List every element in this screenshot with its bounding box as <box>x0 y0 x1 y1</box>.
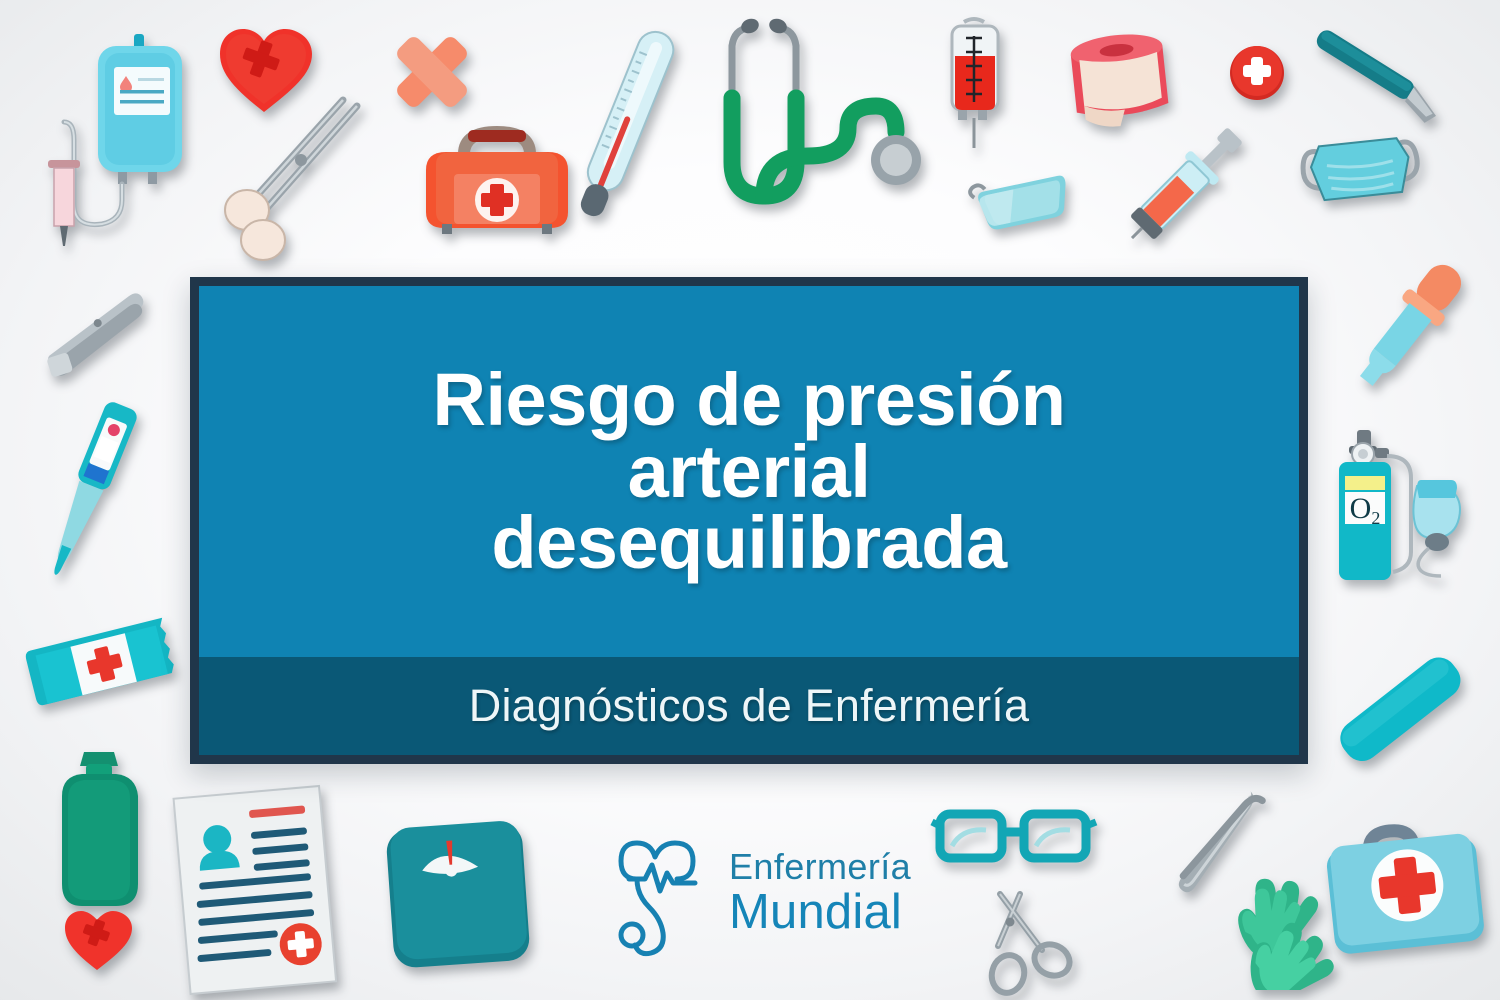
banner-top-band: Riesgo de presión arterial desequilibrad… <box>199 286 1299 657</box>
thermometer-glass-icon <box>555 20 695 230</box>
oxygen-tank-icon: O2 <box>1325 418 1485 618</box>
bandage-strip-icon <box>1326 640 1476 780</box>
banner-bottom-band: Diagnósticos de Enfermería <box>199 657 1299 755</box>
medical-case-icon <box>1312 812 1492 972</box>
iv-drip-bag-icon <box>30 22 210 252</box>
forceps-icon <box>205 88 375 268</box>
title-banner: Riesgo de presión arterial desequilibrad… <box>190 277 1308 764</box>
bandage-packet-icon <box>24 600 194 730</box>
logo-line-two: Mundial <box>729 888 911 937</box>
bandage-cross-icon <box>388 28 476 116</box>
surgical-scissors-icon <box>980 888 1090 1000</box>
logo-line-one: Enfermería <box>729 849 911 885</box>
scalpel-icon <box>1296 16 1456 136</box>
weight-scale-icon <box>376 810 546 980</box>
brand-logo: Enfermería Mundial <box>615 818 915 968</box>
blood-bag-icon <box>930 14 1020 154</box>
safety-goggles-icon <box>966 170 1076 232</box>
digital-thermometer-icon <box>36 392 146 592</box>
face-mask-icon <box>1292 126 1432 221</box>
heart-cross-small-icon <box>62 908 132 974</box>
page-subtitle: Diagnósticos de Enfermería <box>469 680 1029 732</box>
nail-clipper-icon <box>32 292 162 382</box>
syringe-large-icon <box>1110 110 1260 260</box>
patient-record-icon <box>160 782 350 1000</box>
stethoscope-icon <box>700 12 930 242</box>
red-cross-badge-icon <box>1228 44 1286 102</box>
poster-canvas: O2 <box>0 0 1500 1000</box>
eyedropper-icon <box>1340 250 1480 400</box>
eyeglasses-icon <box>930 800 1100 870</box>
page-title: Riesgo de presión arterial desequilibrad… <box>393 364 1106 579</box>
stethoscope-heart-ekg-mark <box>615 823 723 963</box>
hot-water-bottle-icon <box>40 748 160 928</box>
